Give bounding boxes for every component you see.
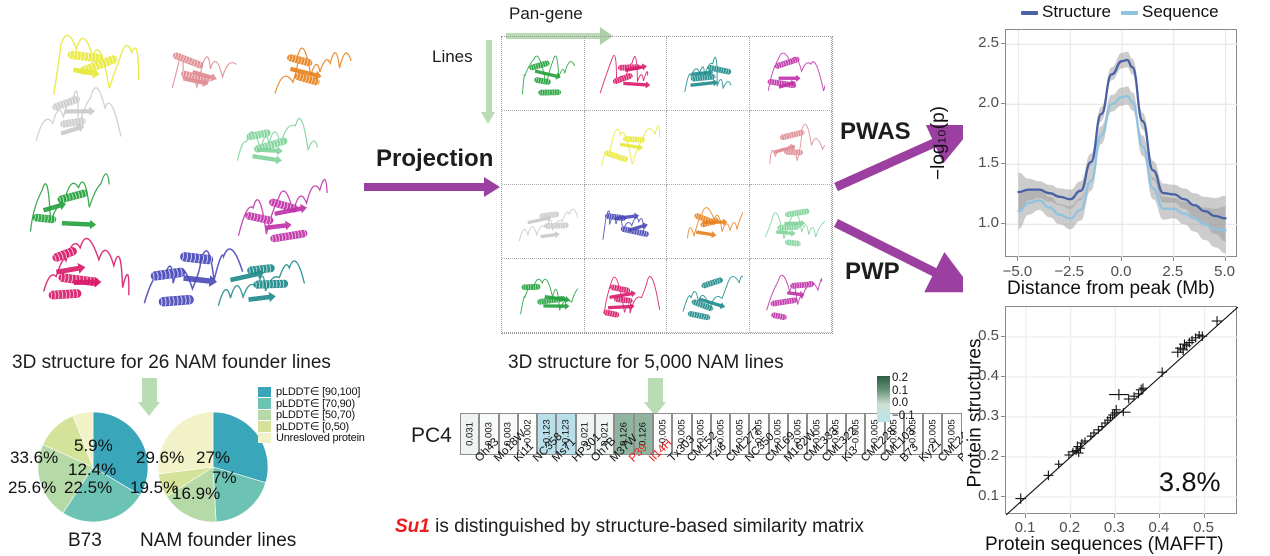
grid-cell-structure — [585, 111, 668, 185]
scatter-x-tick: 0.5 — [1188, 519, 1220, 536]
colorbar-tick-label: 0.1 — [892, 385, 915, 398]
scatter-x-tickmark — [1204, 514, 1205, 518]
scatter-y-tick: 0.1 — [963, 487, 999, 504]
middle-panel-caption: 3D structure for 5,000 NAM lines — [508, 352, 784, 374]
grid-cell-structure — [750, 111, 833, 185]
scatter-y-tick: 0.5 — [963, 327, 999, 344]
pwas-y-tick: 1.0 — [963, 214, 999, 231]
colorbar-ticks: 0.20.10.0−0.1 — [892, 372, 915, 422]
pwas-x-tick: 0.0 — [1105, 263, 1137, 280]
heatmap-cell: 0.031 — [460, 413, 479, 455]
scatter-x-tick: 0.4 — [1143, 519, 1175, 536]
legend-series-name: Sequence — [1142, 2, 1219, 21]
pwas-x-tick: 2.5 — [1157, 263, 1189, 280]
legend-color-swatch — [1121, 11, 1138, 15]
scatter-y-tick: 0.2 — [963, 447, 999, 464]
pie-slice-label: 7% — [212, 468, 237, 488]
grid-cell-structure — [667, 185, 750, 259]
pwp-arrow — [830, 215, 970, 300]
protein-distance-scatter: Protein structures Protein sequences (MA… — [963, 302, 1268, 555]
grid-cell-structure — [585, 37, 668, 111]
lines-arrow-down — [481, 40, 495, 124]
white-grey-structure — [22, 78, 114, 152]
figure-root: 3D structure for 26 NAM founder lines 33… — [0, 0, 1270, 555]
pwas-x-tickmark — [1121, 257, 1122, 261]
plddt-legend-label: pLDDT∈ [0,50) — [276, 420, 349, 433]
scatter-x-tick: 0.3 — [1098, 519, 1130, 536]
pwas-x-tickmark — [1017, 257, 1018, 261]
grid-cell-structure — [750, 185, 833, 259]
scatter-y-tickmark — [1001, 456, 1005, 457]
plddt-swatch — [258, 433, 271, 444]
pie-slice-label: 12.4% — [68, 460, 116, 480]
grid-cell-structure — [667, 37, 750, 111]
left-panel-caption: 3D structure for 26 NAM founder lines — [12, 352, 331, 374]
legend-series-name: Structure — [1042, 2, 1111, 21]
grid-cell-structure — [750, 37, 833, 111]
legend-color-swatch — [1021, 11, 1038, 15]
pwas-legend-item: Sequence — [1121, 4, 1219, 21]
projection-arrow — [364, 177, 500, 197]
pwas-y-tickmark — [1001, 43, 1005, 44]
orange-structure — [262, 30, 352, 104]
pie-slice-label: 25.6% — [8, 478, 56, 498]
pwas-x-tick: 5.0 — [1209, 263, 1241, 280]
plddt-legend-item: pLDDT∈ [0,50) — [258, 421, 365, 433]
scatter-y-tickmark — [1001, 496, 1005, 497]
pie-slice-label: 33.6% — [10, 448, 58, 468]
pie-slice-label: 29.6% — [136, 448, 184, 468]
pwas-x-tickmark — [1069, 257, 1070, 261]
plddt-legend-item: pLDDT∈ [50,70) — [258, 409, 365, 421]
pie-chart-title: B73 — [68, 530, 102, 552]
pwas-line-chart: StructureSequence −log₁₀(p) Distance fro… — [963, 2, 1268, 302]
pie-slice-label: 27% — [196, 448, 230, 468]
pwas-plot-area — [1005, 29, 1237, 257]
pwas-x-axis-label: Distance from peak (Mb) — [1007, 278, 1215, 300]
su1-gene-name: Su1 — [395, 516, 430, 537]
heatmap-colorbar: 0.20.10.0−0.1 — [877, 376, 890, 422]
plddt-swatch — [258, 398, 271, 409]
pwas-svg — [1006, 30, 1238, 258]
colorbar-tick-label: −0.1 — [892, 410, 915, 423]
pwas-y-tick: 2.0 — [963, 94, 999, 111]
plddt-swatch — [258, 421, 271, 432]
pie-slice-label: 22.5% — [64, 478, 112, 498]
scatter-x-tickmark — [1159, 514, 1160, 518]
grid-cell-structure — [667, 259, 750, 333]
grid-cell-structure — [502, 185, 585, 259]
heatmap-cell-value: 0.031 — [464, 422, 475, 446]
pwas-y-axis-label: −log₁₀(p) — [928, 106, 950, 180]
scatter-y-tick: 0.3 — [963, 407, 999, 424]
plddt-legend: pLDDT∈ [90,100]pLDDT∈ [70,90)pLDDT∈ [50,… — [258, 386, 365, 444]
scatter-y-tickmark — [1001, 336, 1005, 337]
pwas-x-tick: −5.0 — [1001, 263, 1033, 280]
left-protein-structure-cloud — [0, 0, 340, 330]
pwas-x-tickmark — [1225, 257, 1226, 261]
lines-label: Lines — [432, 47, 473, 67]
pwas-x-tick: −2.5 — [1053, 263, 1085, 280]
colorbar-tick-label: 0.0 — [892, 397, 915, 410]
pie-chart-title: NAM founder lines — [140, 530, 296, 552]
projection-label: Projection — [376, 145, 493, 173]
grid-cell-structure — [502, 37, 585, 111]
scatter-x-tickmark — [1114, 514, 1115, 518]
pwas-y-tick: 2.5 — [963, 34, 999, 51]
pan-gene-structure-grid — [501, 36, 833, 334]
grid-cell-structure — [502, 259, 585, 333]
plddt-legend-item: pLDDT∈ [70,90) — [258, 398, 365, 410]
pwas-legend-item: Structure — [1021, 4, 1111, 21]
plddt-legend-item: Unresloved protein — [258, 432, 365, 444]
pie-slice-label: 19.5% — [130, 478, 178, 498]
grid-cell-structure — [750, 259, 833, 333]
palegreen-structure — [214, 108, 318, 182]
pwas-y-tick: 1.5 — [963, 154, 999, 171]
scatter-x-tickmark — [1070, 514, 1071, 518]
grid-cell-empty — [502, 111, 585, 185]
plddt-legend-label: Unresloved protein — [276, 432, 365, 444]
su1-caption: Su1 is distinguished by structure-based … — [395, 516, 864, 538]
pie-slice-label: 5.9% — [74, 436, 113, 456]
scatter-x-axis-label: Protein sequences (MAFFT) — [985, 534, 1224, 556]
pwas-x-tickmark — [1173, 257, 1174, 261]
teal-structure — [202, 238, 302, 320]
pan-gene-label: Pan-gene — [509, 4, 583, 24]
colorbar-gradient — [877, 376, 890, 422]
grid-cell-structure — [585, 185, 668, 259]
pwas-y-tickmark — [1001, 103, 1005, 104]
scatter-y-tickmark — [1001, 416, 1005, 417]
pwas-y-tickmark — [1001, 223, 1005, 224]
green-down-arrow-left — [138, 378, 160, 416]
scatter-y-tick: 0.4 — [963, 367, 999, 384]
su1-caption-text: is distinguished by structure-based simi… — [430, 516, 864, 537]
pwas-legend: StructureSequence — [1021, 2, 1229, 22]
crimson-structure — [26, 228, 130, 316]
colorbar-tick-label: 0.2 — [892, 372, 915, 385]
scatter-x-tick: 0.1 — [1009, 519, 1041, 536]
scatter-x-tick: 0.2 — [1054, 519, 1086, 536]
grid-cell-empty — [667, 111, 750, 185]
scatter-x-tickmark — [1025, 514, 1026, 518]
pc-row-label: PC4 — [411, 424, 452, 448]
pie-chart-nam-founder: 29.6%19.5%16.9%7%27%NAM founder lines — [158, 412, 268, 522]
pie-chart-b73: 33.6%25.6%22.5%12.4%5.9%B73 — [38, 412, 148, 522]
plddt-swatch — [258, 387, 271, 398]
salmon-structure — [148, 32, 252, 102]
plddt-legend-item: pLDDT∈ [90,100] — [258, 386, 365, 398]
green-down-arrow-middle — [644, 378, 666, 416]
scatter-annotation: 3.8% — [1159, 467, 1221, 498]
pwas-y-tickmark — [1001, 163, 1005, 164]
scatter-y-tickmark — [1001, 376, 1005, 377]
plddt-swatch — [258, 410, 271, 421]
grid-cell-structure — [585, 259, 668, 333]
